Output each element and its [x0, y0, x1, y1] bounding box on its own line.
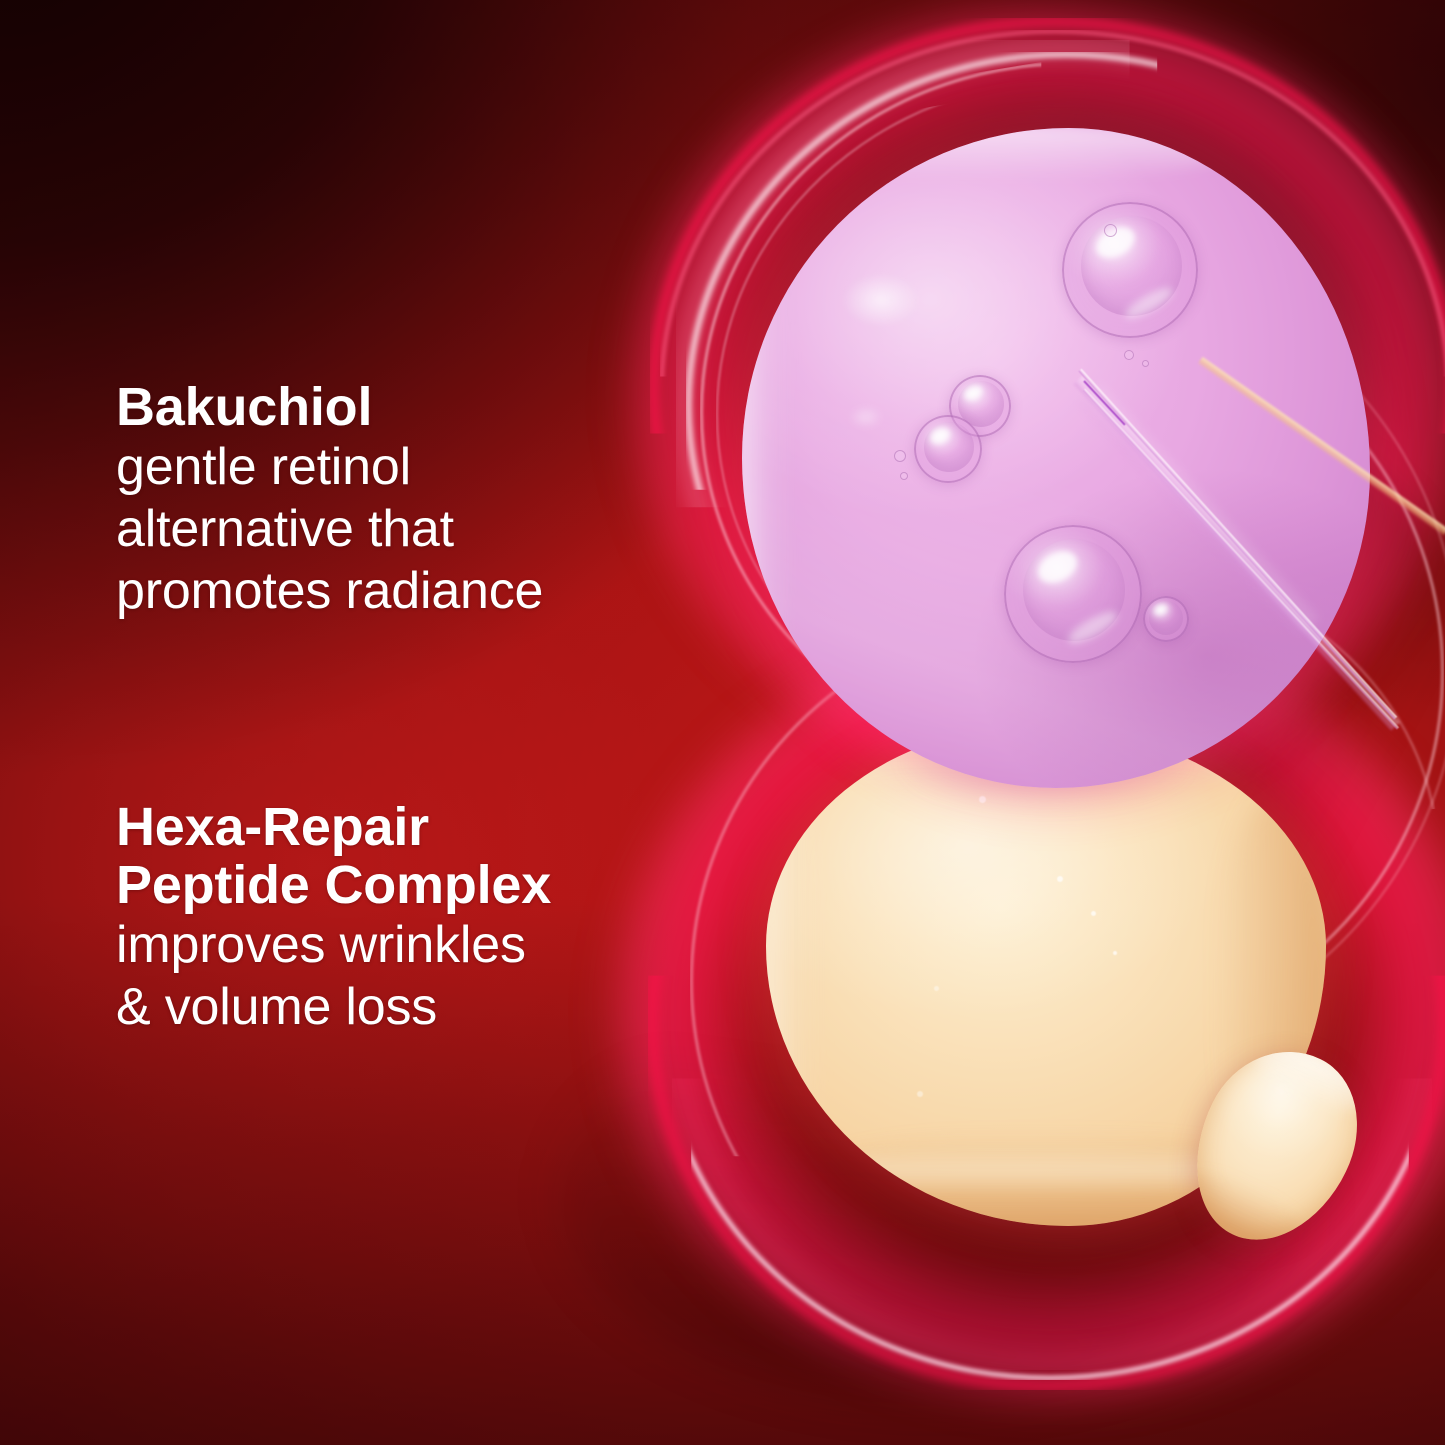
bubble-lower-large: [1004, 525, 1142, 663]
amber-speck-2: [1057, 876, 1063, 882]
micro-bubble-3: [1142, 360, 1149, 367]
description-line: improves wrinkles: [116, 914, 716, 976]
ingredient-block-hexa-repair: Hexa-Repair Peptide Complex improves wri…: [116, 798, 716, 1038]
ingredient-name-line: Peptide Complex: [116, 856, 716, 914]
bubble-core: [1023, 539, 1125, 641]
bubble-mid-lower: [914, 415, 982, 483]
ingredient-description-hexa-repair: improves wrinkles & volume loss: [116, 914, 716, 1038]
amber-speck-3: [1091, 911, 1096, 916]
amber-speck-1: [979, 796, 986, 803]
purple-inner-shading: [742, 128, 1370, 788]
ingredient-name-line: Hexa-Repair: [116, 798, 716, 856]
bubble-core: [924, 422, 974, 472]
purple-droplet: [742, 128, 1370, 788]
product-ingredient-visual: Bakuchiol gentle retinol alternative tha…: [0, 0, 1445, 1445]
bubble-lower-small: [1143, 596, 1189, 642]
description-line: alternative that: [116, 498, 676, 560]
micro-bubble-4: [894, 450, 906, 462]
micro-bubble-1: [1104, 224, 1117, 237]
description-line: & volume loss: [116, 976, 716, 1038]
ingredient-name-bakuchiol: Bakuchiol: [116, 378, 676, 436]
amber-speck-4: [1113, 951, 1117, 955]
ingredient-name-hexa-repair: Hexa-Repair Peptide Complex: [116, 798, 716, 914]
micro-bubble-2: [1124, 350, 1134, 360]
description-line: promotes radiance: [116, 560, 676, 622]
ingredient-name-line: Bakuchiol: [116, 378, 676, 436]
purple-gloss-patch-2: [849, 405, 883, 429]
bubble-top-right: [1062, 202, 1198, 338]
micro-bubble-5: [900, 472, 908, 480]
description-line: gentle retinol: [116, 436, 676, 498]
ingredient-description-bakuchiol: gentle retinol alternative that promotes…: [116, 436, 676, 622]
ingredient-block-bakuchiol: Bakuchiol gentle retinol alternative tha…: [116, 378, 676, 622]
